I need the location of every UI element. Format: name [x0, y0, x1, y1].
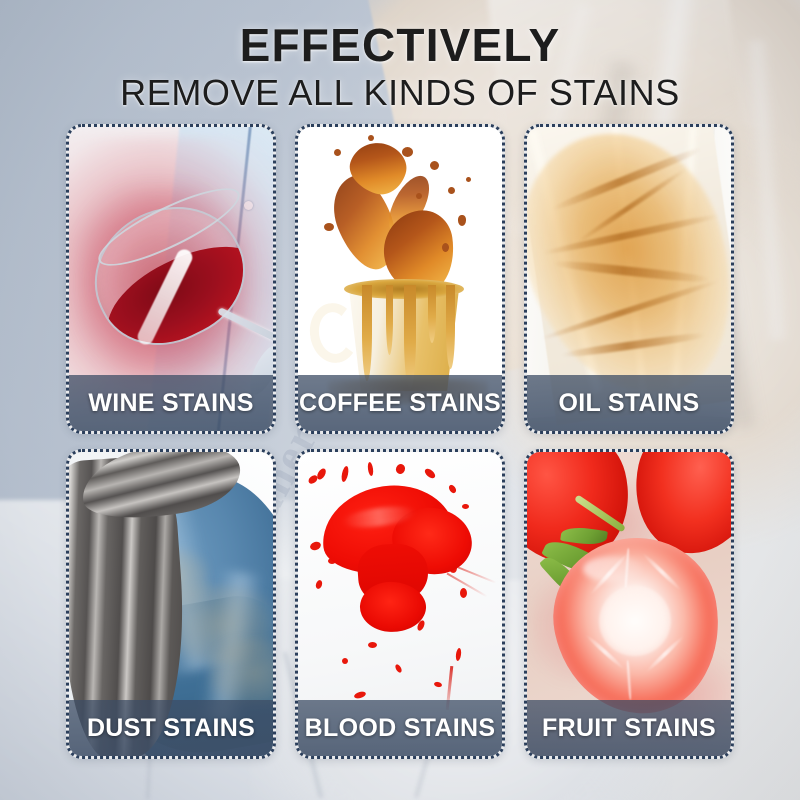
blood-droplet — [315, 467, 327, 481]
blood-droplet — [455, 648, 462, 662]
blood-droplet — [434, 681, 443, 688]
coffee-drip — [428, 285, 436, 343]
card-label-fruit: FRUIT STAINS — [527, 700, 731, 756]
coffee-droplet — [430, 161, 439, 170]
blood-droplet — [309, 540, 322, 551]
coffee-droplet — [402, 147, 413, 157]
coffee-droplet — [416, 193, 422, 199]
coffee-droplet — [442, 243, 449, 252]
coffee-droplet — [458, 215, 466, 226]
coffee-droplet — [466, 177, 471, 182]
coffee-drip — [404, 285, 416, 389]
card-label-text: WINE STAINS — [88, 389, 253, 418]
stain-card-wine[interactable]: WINE STAINS — [66, 124, 276, 434]
blood-droplet — [367, 462, 374, 477]
stain-poster: cleaner EFFECTIVELY REMOVE ALL KINDS OF … — [0, 0, 800, 800]
coffee-drip — [446, 285, 455, 369]
coffee-drip — [362, 285, 372, 381]
strawberry-highlight — [583, 556, 643, 582]
heading-line-1: EFFECTIVELY — [0, 22, 800, 70]
card-label-text: FRUIT STAINS — [542, 714, 716, 743]
blood-droplet — [394, 463, 406, 476]
dust-smudge — [209, 638, 273, 708]
stain-card-grid: WINE STAINS — [66, 124, 734, 759]
blood-droplet — [340, 466, 349, 483]
blood-droplet — [315, 579, 323, 589]
coffee-droplet — [324, 223, 334, 231]
blood-droplet — [447, 484, 457, 495]
coffee-droplet — [334, 149, 341, 156]
blood-droplet — [460, 588, 467, 598]
card-label-text: OIL STAINS — [559, 389, 700, 418]
coffee-droplet — [368, 135, 374, 141]
card-label-dust: DUST STAINS — [69, 700, 273, 756]
poster-heading: EFFECTIVELY REMOVE ALL KINDS OF STAINS — [0, 22, 800, 112]
heading-line-2: REMOVE ALL KINDS OF STAINS — [0, 74, 800, 112]
card-label-blood: BLOOD STAINS — [298, 700, 502, 756]
coffee-droplet — [448, 187, 455, 194]
card-label-oil: OIL STAINS — [527, 375, 731, 431]
blood-droplet — [462, 504, 469, 509]
card-label-text: DUST STAINS — [87, 714, 255, 743]
stain-card-oil[interactable]: OIL STAINS — [524, 124, 734, 434]
card-label-coffee: COFFEE STAINS — [298, 375, 502, 431]
blood-droplet — [353, 690, 366, 699]
card-label-text: BLOOD STAINS — [305, 714, 496, 743]
stain-card-fruit[interactable]: FRUIT STAINS — [524, 449, 734, 759]
blood-droplet — [368, 642, 377, 648]
stain-card-dust[interactable]: DUST STAINS — [66, 449, 276, 759]
coffee-drip — [386, 285, 393, 355]
stain-card-blood[interactable]: BLOOD STAINS — [295, 449, 505, 759]
card-label-text: COFFEE STAINS — [299, 389, 501, 418]
card-label-wine: WINE STAINS — [69, 375, 273, 431]
blood-droplet — [342, 658, 348, 664]
stain-card-coffee[interactable]: COFFEE STAINS — [295, 124, 505, 434]
blood-droplet — [394, 663, 403, 673]
blood-droplet — [423, 467, 437, 480]
